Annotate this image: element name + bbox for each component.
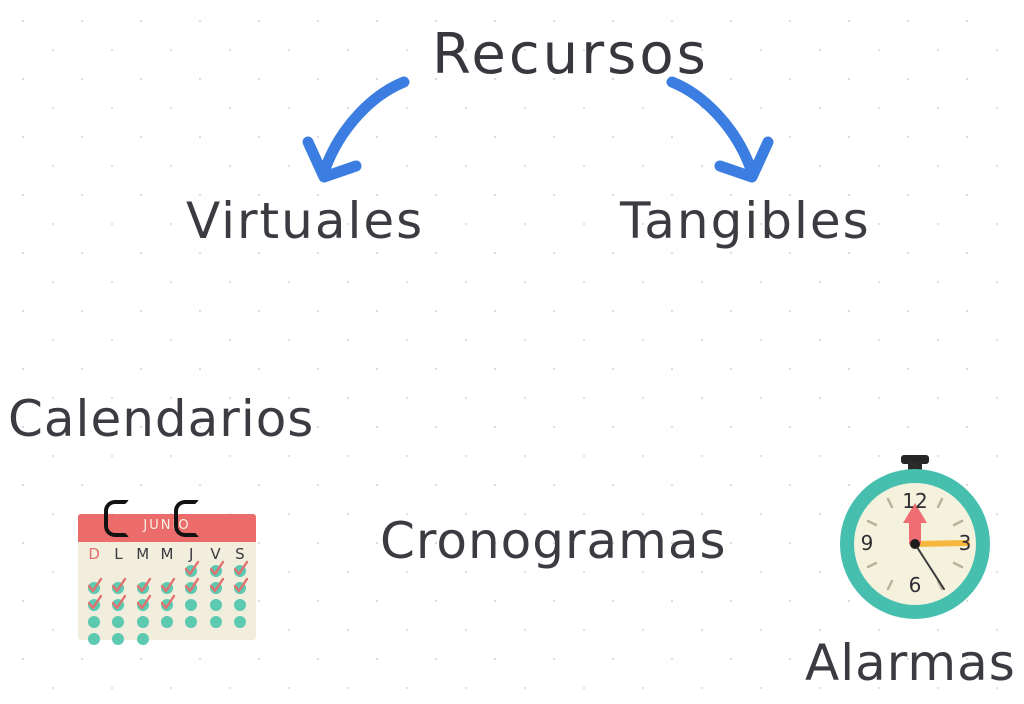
calendar-icon: JUNIO DLMMJVS [78, 498, 256, 640]
calendar-check-icon [184, 561, 200, 577]
branch-label-tangibles: Tangibles [620, 192, 871, 250]
calendar-day-cell [155, 632, 179, 649]
clock-number-6: 6 [902, 573, 928, 597]
calendar-day-dot [112, 633, 124, 645]
calendar-day-cell [155, 615, 179, 632]
calendar-day-cell [203, 598, 227, 615]
calendar-day-cell [131, 632, 155, 649]
clock-number-9: 9 [856, 531, 878, 555]
calendar-week-row [82, 632, 252, 649]
alarm-clock-icon: 12 3 6 9 [840, 455, 990, 627]
calendar-day-cell [131, 615, 155, 632]
calendar-weekday-3: M [155, 545, 179, 563]
calendar-day-dot [137, 616, 149, 628]
calendar-week-row [82, 615, 252, 632]
calendar-day-cell [155, 598, 179, 615]
calendar-day-dot [234, 599, 246, 611]
calendar-day-cell [203, 581, 227, 598]
calendar-day-cell [82, 632, 106, 649]
calendar-day-cell [82, 615, 106, 632]
calendar-day-dot [185, 616, 197, 628]
calendar-day-cell [106, 598, 130, 615]
calendar-day-cell [131, 598, 155, 615]
calendar-day-cell [106, 615, 130, 632]
calendar-check-icon [184, 578, 200, 594]
branch-label-virtuales: Virtuales [186, 192, 424, 250]
curved-arrow-down-left-icon [300, 78, 420, 188]
item-label-calendarios: Calendarios [8, 390, 314, 448]
calendar-check-icon [160, 578, 176, 594]
calendar-day-dot [137, 633, 149, 645]
calendar-day-cell [82, 598, 106, 615]
calendar-day-cell [179, 598, 203, 615]
calendar-day-dot [88, 633, 100, 645]
calendar-day-cell [228, 632, 252, 649]
calendar-check-icon [209, 578, 225, 594]
calendar-check-icon [136, 578, 152, 594]
calendar-check-icon [209, 561, 225, 577]
calendar-day-cell [228, 615, 252, 632]
calendar-day-cell [179, 581, 203, 598]
calendar-day-cell [228, 598, 252, 615]
calendar-day-dot [234, 616, 246, 628]
calendar-weekday-header: DLMMJVS [82, 545, 252, 563]
calendar-ring-icon [174, 500, 199, 537]
calendar-day-dot [88, 616, 100, 628]
calendar-day-dot [185, 599, 197, 611]
calendar-check-icon [160, 595, 176, 611]
calendar-day-cell [228, 581, 252, 598]
calendar-day-dot [161, 616, 173, 628]
calendar-check-icon [87, 595, 103, 611]
clock-center-pin [910, 539, 920, 549]
calendar-check-icon [136, 595, 152, 611]
item-label-cronogramas: Cronogramas [380, 512, 727, 570]
clock-number-12: 12 [900, 489, 930, 513]
item-label-alarmas: Alarmas [805, 634, 1016, 692]
calendar-day-cell [203, 632, 227, 649]
curved-arrow-down-right-icon [660, 78, 780, 188]
calendar-day-grid [82, 564, 252, 649]
calendar-ring-icon [104, 500, 129, 537]
calendar-weekday-1: L [106, 545, 130, 563]
calendar-weekday-0: D [82, 545, 106, 563]
calendar-day-cell [203, 615, 227, 632]
calendar-day-dot [210, 599, 222, 611]
calendar-day-dot [112, 616, 124, 628]
mindmap-canvas: Recursos Virtuales Tangibles Calendarios… [0, 0, 1024, 704]
calendar-day-cell [179, 632, 203, 649]
calendar-check-icon [111, 578, 127, 594]
calendar-day-cell [106, 632, 130, 649]
calendar-check-icon [233, 561, 249, 577]
calendar-day-dot [210, 616, 222, 628]
calendar-weekday-2: M [131, 545, 155, 563]
clock-number-3: 3 [954, 531, 976, 555]
calendar-check-icon [87, 578, 103, 594]
calendar-week-row [82, 598, 252, 615]
calendar-check-icon [233, 578, 249, 594]
calendar-day-cell [179, 615, 203, 632]
calendar-check-icon [111, 595, 127, 611]
